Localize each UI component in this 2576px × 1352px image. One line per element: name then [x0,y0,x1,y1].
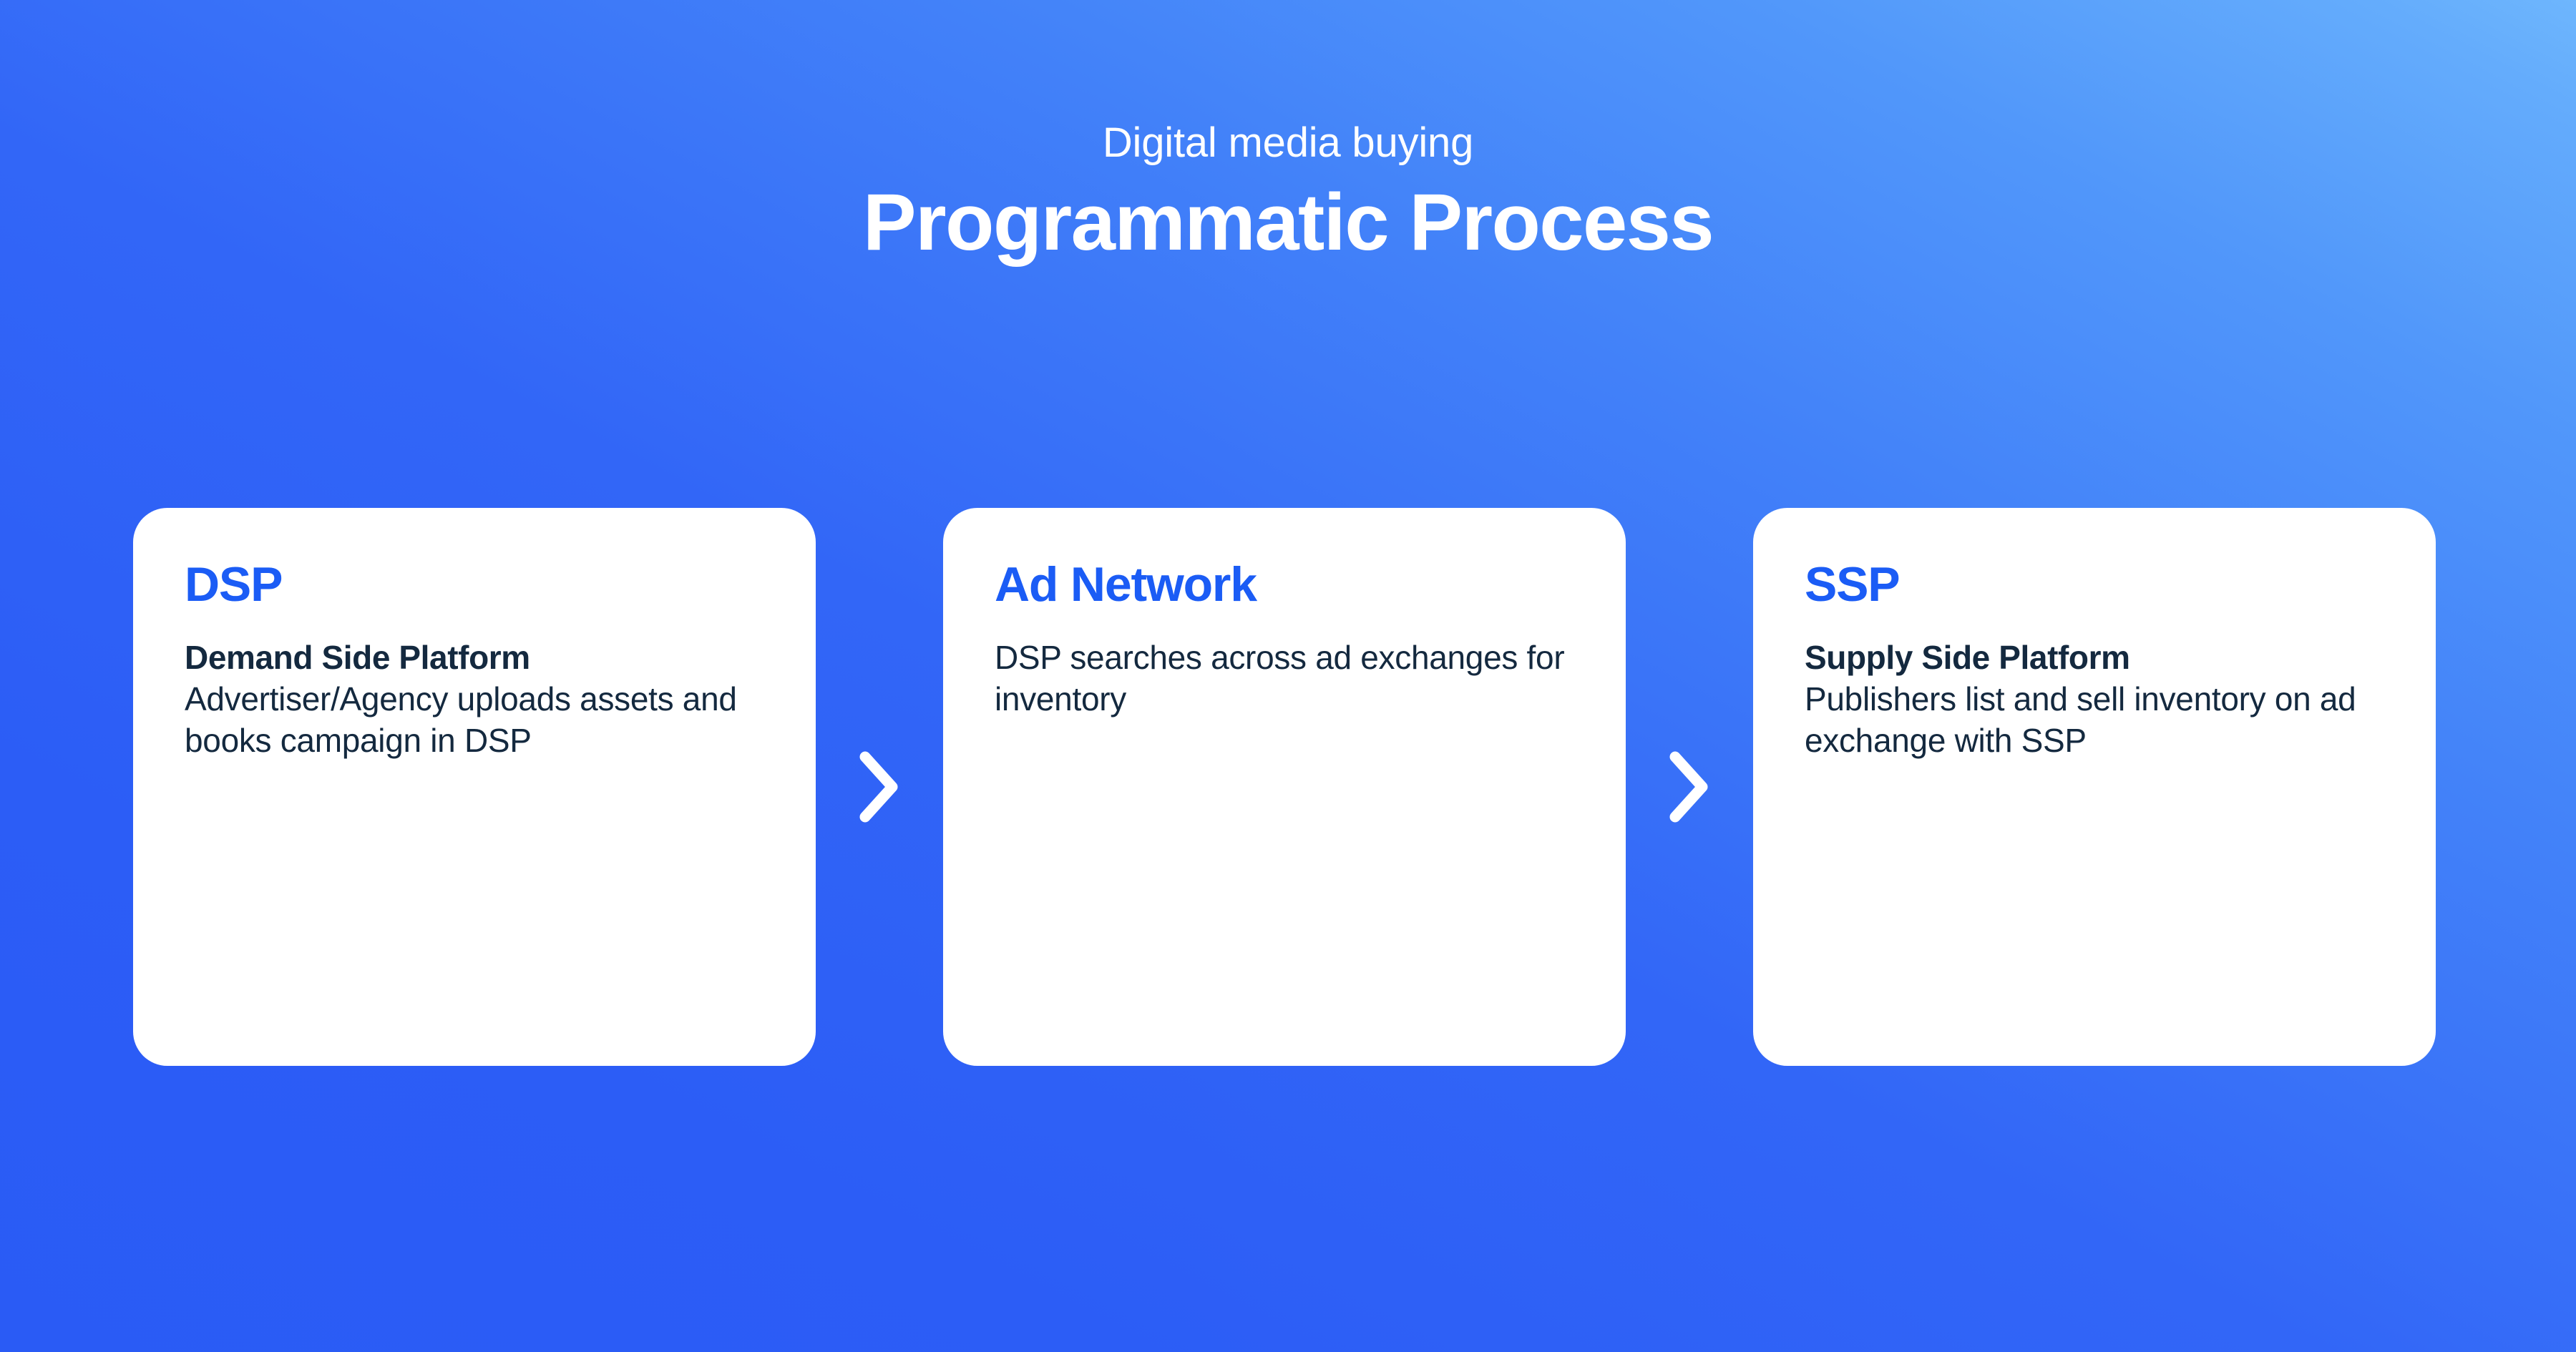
slide-header: Digital media buying Programmatic Proces… [0,122,2576,264]
card-title-ssp: SSP [1805,559,2389,610]
card-title-ad-network: Ad Network [995,559,1579,610]
process-flow: DSP Demand Side Platform Advertiser/Agen… [133,508,2441,1066]
slide-eyebrow: Digital media buying [0,122,2576,165]
card-body-dsp: Advertiser/Agency uploads assets and boo… [185,679,769,762]
chevron-right-icon [858,750,901,824]
process-card-dsp[interactable]: DSP Demand Side Platform Advertiser/Agen… [133,508,816,1066]
card-body-ssp: Publishers list and sell inventory on ad… [1805,679,2389,762]
card-title-dsp: DSP [185,559,769,610]
slide-title: Programmatic Process [0,181,2576,264]
flow-separator-1 [816,508,943,1066]
card-subtitle-ssp: Supply Side Platform [1805,637,2389,679]
card-subtitle-dsp: Demand Side Platform [185,637,769,679]
flow-separator-2 [1626,508,1753,1066]
process-card-ssp[interactable]: SSP Supply Side Platform Publishers list… [1753,508,2436,1066]
card-body-ad-network: DSP searches across ad exchanges for inv… [995,637,1579,720]
chevron-right-icon [1668,750,1711,824]
process-card-ad-network[interactable]: Ad Network DSP searches across ad exchan… [943,508,1626,1066]
slide-canvas: Digital media buying Programmatic Proces… [0,0,2576,1352]
